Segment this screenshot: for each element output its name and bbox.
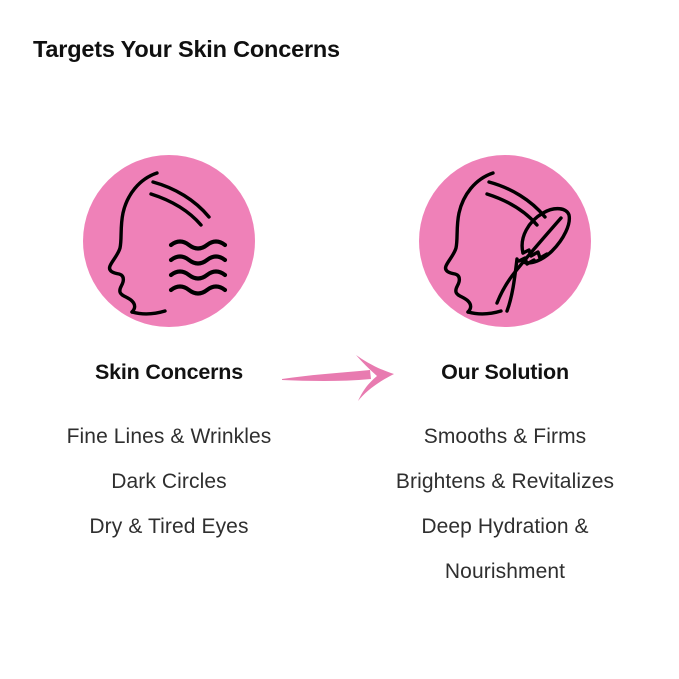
solution-list: Smooths & Firms Brightens & Revitalizes … bbox=[360, 414, 650, 594]
skin-concerns-infographic: Targets Your Skin Concerns bbox=[0, 0, 679, 679]
list-item: Smooths & Firms bbox=[360, 414, 650, 459]
list-item: Brightens & Revitalizes bbox=[360, 459, 650, 504]
column-our-solution: Our Solution Smooths & Firms Brightens &… bbox=[355, 155, 655, 594]
page-title: Targets Your Skin Concerns bbox=[33, 36, 340, 63]
concern-list: Fine Lines & Wrinkles Dark Circles Dry &… bbox=[24, 414, 314, 549]
face-profile-wrinkles-icon bbox=[83, 155, 255, 327]
column-heading-our-solution: Our Solution bbox=[441, 362, 569, 384]
column-heading-skin-concerns: Skin Concerns bbox=[95, 362, 243, 384]
list-item: Dark Circles bbox=[24, 459, 314, 504]
face-profile-feather-icon bbox=[419, 155, 591, 327]
list-item: Dry & Tired Eyes bbox=[24, 504, 314, 549]
column-skin-concerns: Skin Concerns Fine Lines & Wrinkles Dark… bbox=[19, 155, 319, 549]
list-item: Deep Hydration & Nourishment bbox=[360, 504, 650, 594]
list-item: Fine Lines & Wrinkles bbox=[24, 414, 314, 459]
